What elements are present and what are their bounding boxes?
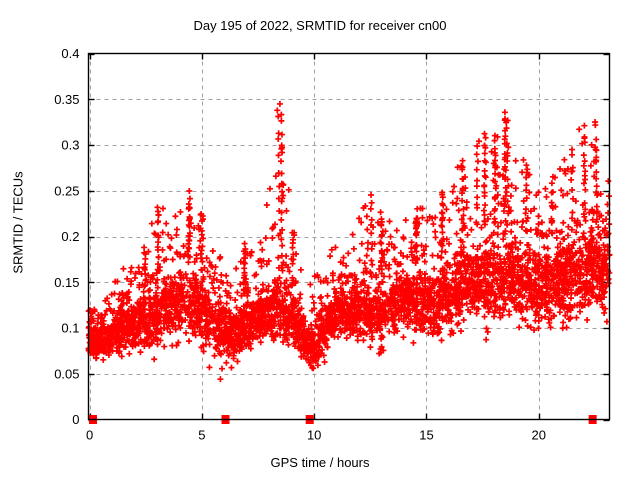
axis-tick-labels: 00.050.10.150.20.250.30.350.405101520: [54, 46, 546, 443]
plot-canvas: 00.050.10.150.20.250.30.350.405101520: [0, 0, 640, 480]
svg-text:0.35: 0.35: [54, 92, 79, 107]
plot-frame: [89, 54, 610, 420]
scatter-plot-figure: Day 195 of 2022, SRMTID for receiver cn0…: [0, 0, 640, 480]
grid-lines: [89, 54, 610, 420]
svg-text:0.25: 0.25: [54, 183, 79, 198]
svg-text:5: 5: [198, 428, 205, 443]
svg-text:20: 20: [532, 428, 546, 443]
svg-text:0.15: 0.15: [54, 275, 79, 290]
svg-text:0.1: 0.1: [61, 321, 79, 336]
svg-text:10: 10: [307, 428, 321, 443]
svg-text:0.4: 0.4: [61, 46, 79, 61]
data-points: [86, 101, 613, 382]
svg-text:15: 15: [419, 428, 433, 443]
svg-text:0.3: 0.3: [61, 138, 79, 153]
svg-text:0: 0: [86, 428, 93, 443]
svg-text:0.2: 0.2: [61, 229, 79, 244]
svg-text:0.05: 0.05: [54, 366, 79, 381]
svg-text:0: 0: [72, 412, 79, 427]
